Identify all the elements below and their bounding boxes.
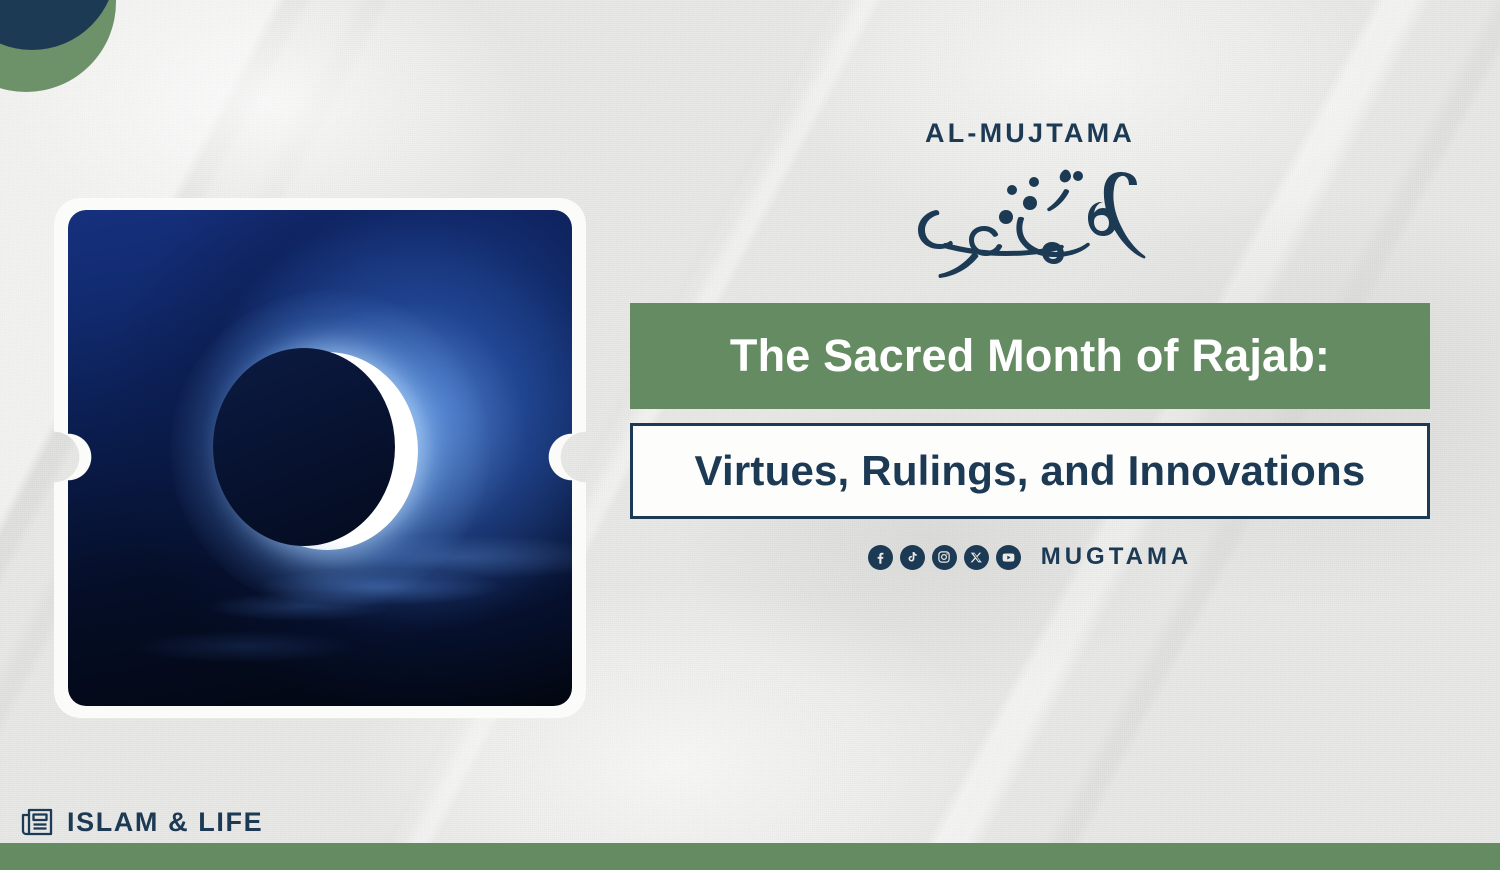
social-links-row: MUGTAMA [630,543,1430,571]
x-twitter-icon[interactable] [964,545,989,570]
tiktok-icon[interactable] [900,545,925,570]
youtube-icon[interactable] [996,545,1021,570]
moon-shadow-disc [213,348,395,546]
facebook-icon[interactable] [868,545,893,570]
social-handle-text: MUGTAMA [1041,543,1193,571]
al-mujtama-arabic-calligraphy [630,155,1430,287]
content-column: AL-MUJTAMA [630,118,1430,571]
headline-secondary-bar: Virtues, Rulings, and Innovations [630,423,1430,519]
footer-category-label: ISLAM & LIFE [67,807,263,838]
footer-category: ISLAM & LIFE [20,806,263,838]
crescent-moon-photo [68,210,572,706]
headline-line-2: Virtues, Rulings, and Innovations [695,447,1366,495]
bottom-accent-band [0,843,1500,870]
poster-canvas: AL-MUJTAMA [0,0,1500,870]
crescent-moon-icon [236,352,418,550]
headline-primary-bar: The Sacred Month of Rajab: [630,303,1430,409]
featured-image-card [54,198,586,718]
newspaper-icon [20,806,54,838]
instagram-icon[interactable] [932,545,957,570]
headline-line-1: The Sacred Month of Rajab: [730,330,1330,382]
brand-wordmark: AL-MUJTAMA [630,118,1430,149]
